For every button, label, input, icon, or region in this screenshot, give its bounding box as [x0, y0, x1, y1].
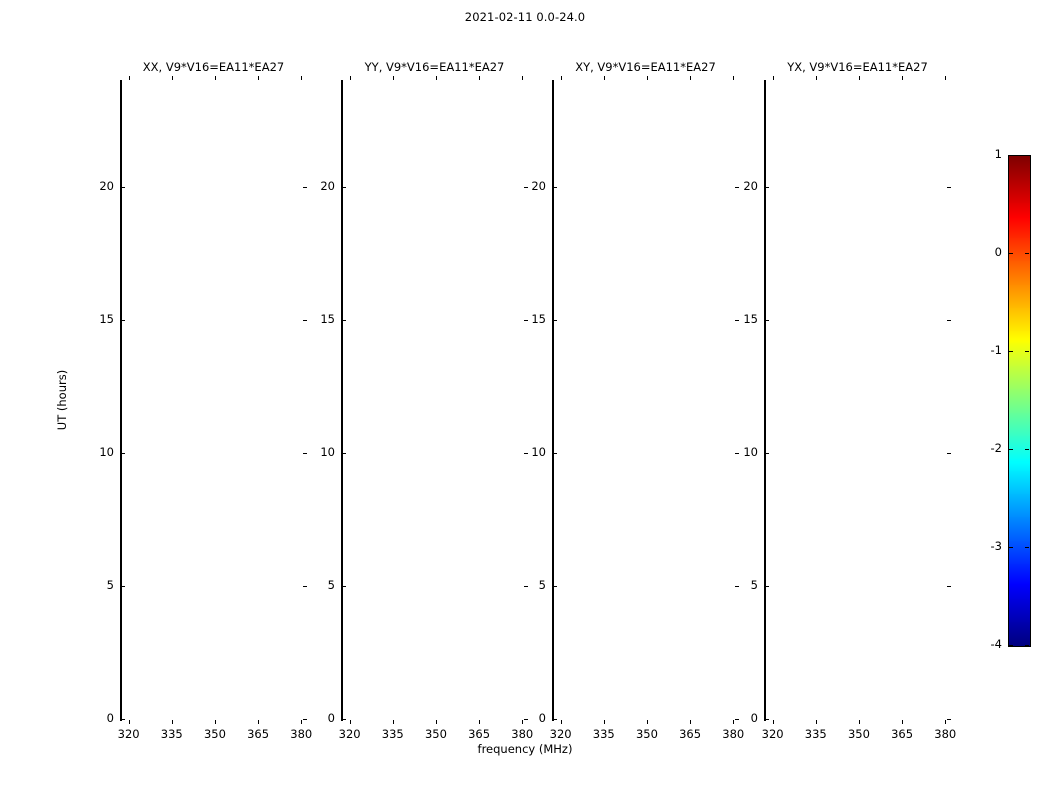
panel-title-yy: YY, V9*V16=EA11*EA27	[341, 60, 528, 74]
x-axis-tick	[604, 720, 605, 724]
x-axis-tick-label: 335	[150, 727, 194, 741]
x-axis-tick	[172, 76, 173, 80]
x-axis-tick	[647, 76, 648, 80]
x-axis-tick	[215, 720, 216, 724]
y-axis-tick	[553, 453, 557, 454]
y-axis-tick	[342, 453, 346, 454]
y-axis-tick-label: 5	[303, 578, 335, 592]
x-axis-tick	[902, 76, 903, 80]
x-axis-tick	[816, 720, 817, 724]
x-axis-tick-label: 320	[539, 727, 583, 741]
colorbar-tick	[1009, 351, 1013, 352]
y-axis-tick-label: 10	[726, 445, 758, 459]
y-axis-tick	[553, 187, 557, 188]
x-axis-tick	[604, 76, 605, 80]
waterfall-panel-yx[interactable]	[764, 80, 766, 721]
x-axis-tick	[522, 76, 523, 80]
figure-suptitle: 2021-02-11 0.0-24.0	[0, 10, 1050, 24]
x-axis-tick-label: 365	[880, 727, 924, 741]
y-axis-tick-label: 5	[726, 578, 758, 592]
x-axis-tick	[902, 720, 903, 724]
y-axis-tick	[947, 453, 951, 454]
x-axis-tick-label: 350	[837, 727, 881, 741]
x-axis-tick-label: 380	[500, 727, 544, 741]
y-axis-tick-label: 15	[82, 312, 114, 326]
panel-title-yx: YX, V9*V16=EA11*EA27	[764, 60, 951, 74]
colorbar-tick	[1025, 449, 1029, 450]
x-axis-tick	[733, 76, 734, 80]
y-axis-tick	[947, 187, 951, 188]
x-axis-tick	[859, 76, 860, 80]
y-axis-tick-label: 15	[726, 312, 758, 326]
y-axis-tick-label: 5	[514, 578, 546, 592]
colorbar-tick	[1009, 253, 1013, 254]
x-axis-tick	[945, 76, 946, 80]
x-axis-tick	[301, 76, 302, 80]
y-axis-tick	[947, 719, 951, 720]
x-axis-tick	[816, 76, 817, 80]
y-axis-tick	[947, 320, 951, 321]
colorbar-tick	[1025, 547, 1029, 548]
figure-canvas: 2021-02-11 0.0-24.0 XX, V9*V16=EA11*EA27…	[0, 0, 1050, 800]
x-axis-tick-label: 365	[236, 727, 280, 741]
y-axis-tick	[765, 453, 769, 454]
y-axis-tick	[553, 719, 557, 720]
y-axis-tick-label: 10	[514, 445, 546, 459]
x-axis-tick-label: 350	[414, 727, 458, 741]
x-axis-tick-label: 320	[328, 727, 372, 741]
colorbar-tick	[1025, 351, 1029, 352]
y-axis-tick	[342, 320, 346, 321]
colorbar-tick	[1025, 253, 1029, 254]
panel-title-xx: XX, V9*V16=EA11*EA27	[120, 60, 307, 74]
x-axis-tick	[859, 720, 860, 724]
x-axis-tick-label: 380	[923, 727, 967, 741]
colorbar-tick-label: -3	[974, 539, 1002, 553]
colorbar-tick	[1025, 645, 1029, 646]
x-axis-tick-label: 365	[668, 727, 712, 741]
x-axis-tick-label: 380	[711, 727, 755, 741]
y-axis-label: UT (hours)	[55, 369, 69, 429]
x-axis-tick	[350, 720, 351, 724]
y-axis-tick	[342, 187, 346, 188]
x-axis-tick	[690, 720, 691, 724]
y-axis-tick	[121, 453, 125, 454]
x-axis-tick	[436, 720, 437, 724]
y-axis-tick	[121, 320, 125, 321]
y-axis-tick	[342, 586, 346, 587]
colorbar-tick	[1009, 449, 1013, 450]
x-axis-tick	[172, 720, 173, 724]
y-axis-tick-label: 20	[726, 179, 758, 193]
waterfall-panel-yy[interactable]	[341, 80, 343, 721]
y-axis-tick-label: 0	[726, 711, 758, 725]
y-axis-tick	[121, 586, 125, 587]
x-axis-tick	[258, 76, 259, 80]
colorbar-tick	[1025, 155, 1029, 156]
colorbar-tick-label: -1	[974, 343, 1002, 357]
y-axis-tick	[765, 187, 769, 188]
y-axis-tick-label: 0	[514, 711, 546, 725]
colorbar-tick	[1009, 155, 1013, 156]
x-axis-tick-label: 335	[371, 727, 415, 741]
x-axis-tick	[479, 720, 480, 724]
y-axis-tick	[553, 320, 557, 321]
y-axis-tick-label: 20	[82, 179, 114, 193]
x-axis-tick	[350, 76, 351, 80]
x-axis-tick	[945, 720, 946, 724]
x-axis-tick-label: 350	[193, 727, 237, 741]
x-axis-tick	[129, 720, 130, 724]
colorbar[interactable]	[1008, 155, 1031, 647]
x-axis-tick	[479, 76, 480, 80]
x-axis-tick	[561, 720, 562, 724]
y-axis-tick	[765, 586, 769, 587]
x-axis-tick	[258, 720, 259, 724]
x-axis-label: frequency (MHz)	[0, 742, 1050, 756]
colorbar-tick-label: -2	[974, 441, 1002, 455]
panel-title-xy: XY, V9*V16=EA11*EA27	[552, 60, 739, 74]
x-axis-tick-label: 335	[794, 727, 838, 741]
y-axis-tick	[121, 719, 125, 720]
x-axis-tick-label: 320	[751, 727, 795, 741]
x-axis-tick	[773, 720, 774, 724]
y-axis-tick-label: 5	[82, 578, 114, 592]
x-axis-tick	[561, 76, 562, 80]
y-axis-tick-label: 10	[82, 445, 114, 459]
colorbar-tick-label: 1	[974, 147, 1002, 161]
x-axis-tick	[773, 76, 774, 80]
y-axis-tick	[765, 719, 769, 720]
waterfall-panel-xx[interactable]	[120, 80, 122, 721]
x-axis-tick	[393, 720, 394, 724]
colorbar-tick-label: -4	[974, 637, 1002, 651]
colorbar-tick	[1009, 547, 1013, 548]
y-axis-tick-label: 20	[303, 179, 335, 193]
y-axis-tick	[947, 586, 951, 587]
x-axis-tick-label: 350	[625, 727, 669, 741]
y-axis-tick	[553, 586, 557, 587]
y-axis-tick-label: 20	[514, 179, 546, 193]
colorbar-tick-label: 0	[974, 245, 1002, 259]
y-axis-tick	[121, 187, 125, 188]
x-axis-tick-label: 380	[279, 727, 323, 741]
x-axis-tick	[215, 76, 216, 80]
x-axis-tick	[647, 720, 648, 724]
waterfall-panel-xy[interactable]	[552, 80, 554, 721]
y-axis-tick-label: 15	[303, 312, 335, 326]
y-axis-tick-label: 0	[303, 711, 335, 725]
x-axis-tick-label: 335	[582, 727, 626, 741]
y-axis-tick	[342, 719, 346, 720]
x-axis-tick	[393, 76, 394, 80]
y-axis-tick-label: 0	[82, 711, 114, 725]
x-axis-tick	[301, 720, 302, 724]
x-axis-tick	[436, 76, 437, 80]
x-axis-tick	[129, 76, 130, 80]
x-axis-tick-label: 320	[107, 727, 151, 741]
colorbar-tick	[1009, 645, 1013, 646]
y-axis-tick	[765, 320, 769, 321]
x-axis-tick-label: 365	[457, 727, 501, 741]
y-axis-tick-label: 10	[303, 445, 335, 459]
y-axis-tick-label: 15	[514, 312, 546, 326]
x-axis-tick	[690, 76, 691, 80]
